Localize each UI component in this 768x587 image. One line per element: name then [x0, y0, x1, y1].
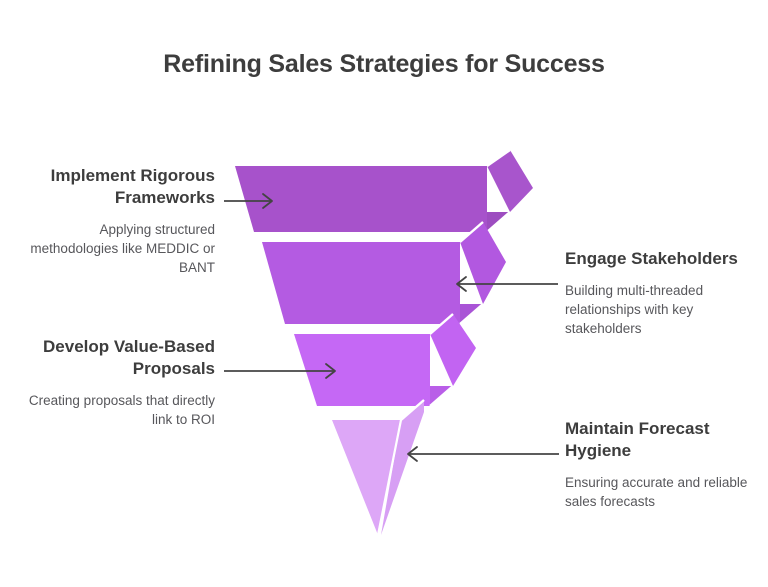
callout-engage-body: Building multi-threaded relationships wi… [565, 281, 760, 338]
funnel-layer-1[interactable] [235, 150, 533, 232]
funnel-layer-4[interactable] [332, 400, 424, 535]
callout-maintain-forecast-hygiene: Maintain Forecast Hygiene Ensuring accur… [565, 418, 763, 511]
connector-arrow-left-icon [452, 275, 560, 293]
inverted-funnel-chart [215, 150, 545, 550]
callout-engage-heading: Engage Stakeholders [565, 248, 760, 270]
callout-implement-body: Applying structured methodologies like M… [10, 220, 215, 277]
funnel-layer-1-side-face [487, 150, 533, 212]
funnel-layer-2-front-face [262, 242, 460, 324]
callout-engage-stakeholders: Engage Stakeholders Building multi-threa… [565, 248, 760, 338]
callout-forecast-heading: Maintain Forecast Hygiene [565, 418, 763, 462]
callout-forecast-body: Ensuring accurate and reliable sales for… [565, 473, 763, 511]
callout-implement-rigorous-frameworks: Implement Rigorous Frameworks Applying s… [10, 165, 215, 277]
funnel-layer-4-front-face [332, 420, 401, 535]
funnel-layer-3-side-face [430, 314, 476, 386]
funnel-layer-3[interactable] [294, 314, 476, 406]
infographic-canvas: Refining Sales Strategies for Success [0, 0, 768, 587]
connector-arrow-right-icon [224, 192, 279, 210]
connector-arrow-left-icon [403, 445, 561, 463]
callout-implement-heading: Implement Rigorous Frameworks [10, 165, 215, 209]
funnel-layer-2[interactable] [262, 222, 506, 324]
callout-develop-heading: Develop Value-Based Proposals [10, 336, 215, 380]
callout-develop-body: Creating proposals that directly link to… [10, 391, 215, 429]
callout-develop-value-based-proposals: Develop Value-Based Proposals Creating p… [10, 336, 215, 429]
connector-arrow-right-icon [224, 362, 342, 380]
page-title: Refining Sales Strategies for Success [0, 50, 768, 79]
